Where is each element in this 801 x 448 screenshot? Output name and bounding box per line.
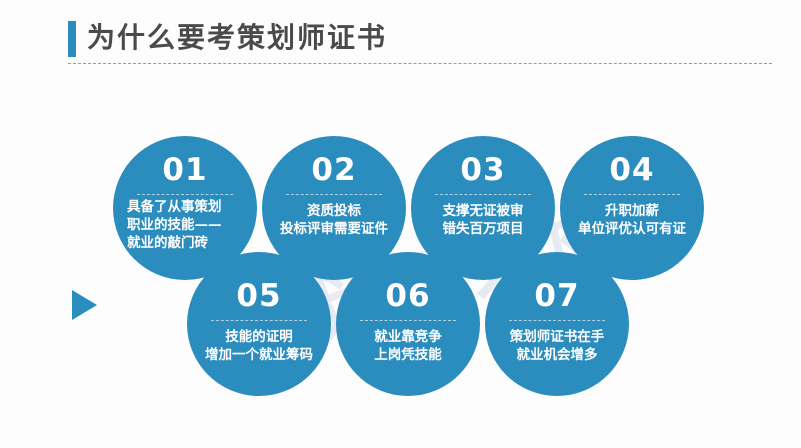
bubble-number: 04 [560, 152, 704, 188]
bubble-divider [509, 320, 605, 321]
bubble-text: 策划师证书在手 就业机会增多 [485, 328, 629, 364]
bubble-text: 技能的证明 增加一个就业筹码 [187, 328, 331, 364]
bubble-divider [360, 320, 456, 321]
bubble-item-07[interactable]: 07 策划师证书在手 就业机会增多 [485, 252, 629, 396]
bubble-text: 支撑无证被审 错失百万项目 [411, 202, 555, 238]
slide-canvas: 为什么要考策划师证书 策划人才网 01 具备了从事策划 职业的技能—— 就业的敲… [0, 0, 801, 448]
bubble-divider [211, 320, 307, 321]
bubble-number: 02 [262, 152, 406, 188]
bubble-number: 06 [336, 278, 480, 314]
bubble-number: 07 [485, 278, 629, 314]
bubble-text: 升职加薪 单位评优认可有证 [560, 202, 704, 238]
play-triangle-icon [72, 290, 97, 320]
page-title: 为什么要考策划师证书 [87, 16, 387, 56]
bubble-divider [286, 194, 382, 195]
bubble-divider [584, 194, 680, 195]
bubble-number: 01 [113, 152, 257, 188]
slide-header: 为什么要考策划师证书 [68, 18, 778, 68]
bubble-text: 就业靠竞争 上岗凭技能 [336, 328, 480, 364]
bubble-item-06[interactable]: 06 就业靠竞争 上岗凭技能 [336, 252, 480, 396]
bubble-text: 具备了从事策划 职业的技能—— 就业的敲门砖 [113, 198, 257, 252]
bubble-divider [137, 194, 233, 195]
title-divider [68, 63, 772, 64]
bubble-item-05[interactable]: 05 技能的证明 增加一个就业筹码 [187, 252, 331, 396]
bubble-divider [435, 194, 531, 195]
bubble-number: 05 [187, 278, 331, 314]
bubble-number: 03 [411, 152, 555, 188]
bubble-text: 资质投标 投标评审需要证件 [262, 202, 406, 238]
title-accent-bar [68, 21, 76, 57]
